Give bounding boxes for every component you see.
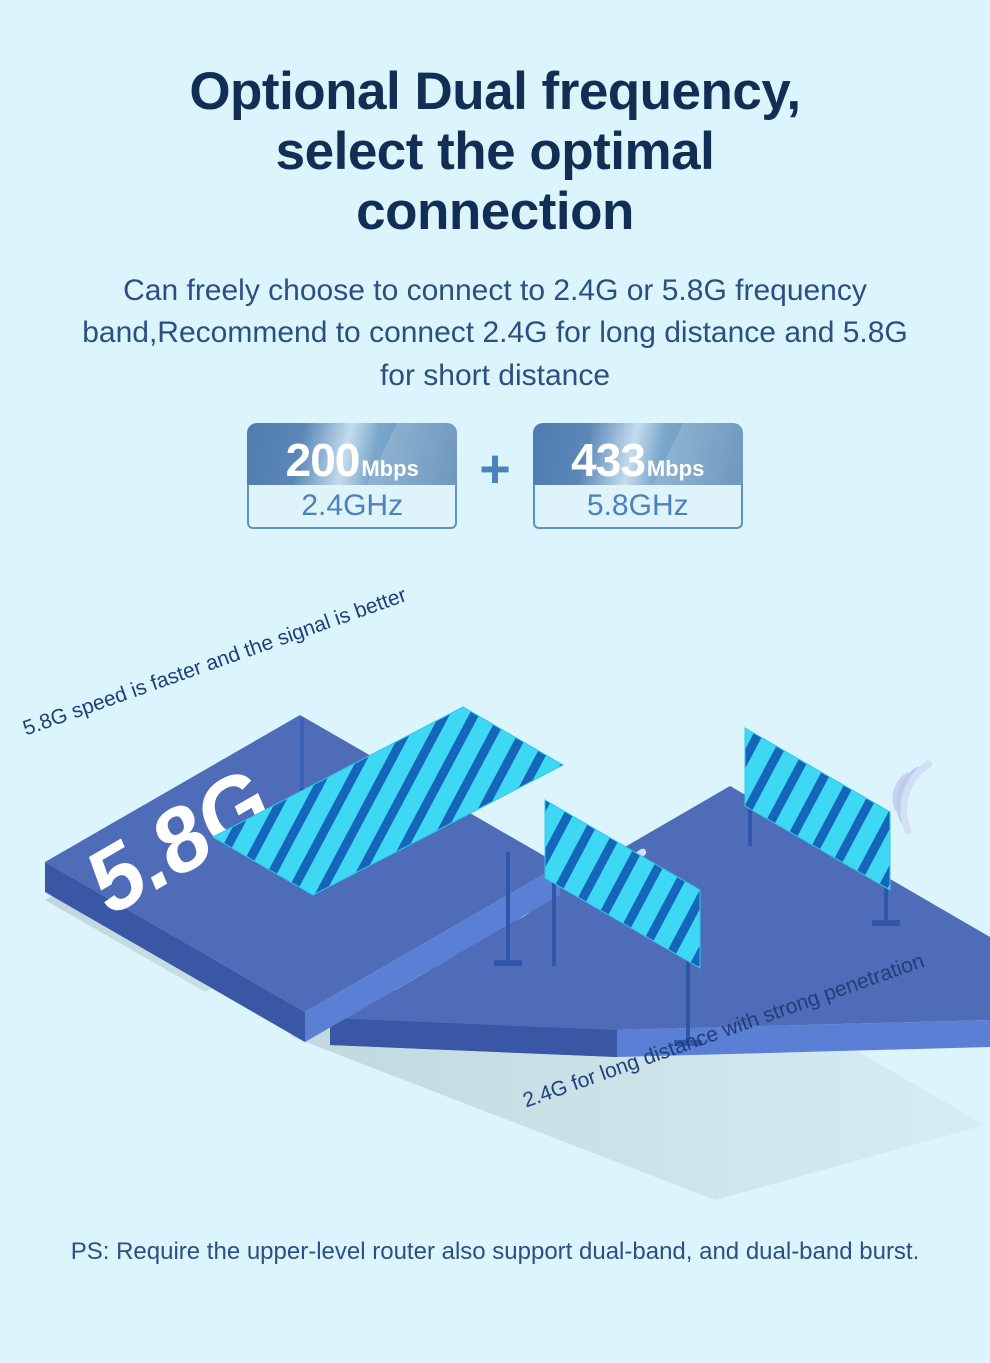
speed-badge-58ghz-value: 433 Mbps [533,423,743,485]
speed-badge-24ghz-value: 200 Mbps [247,423,457,485]
footer-note: PS: Require the upper-level router also … [0,1238,990,1266]
band-label: 2.4GHz [301,491,403,521]
speed-badge-24ghz-band: 2.4GHz [247,485,457,529]
band-label: 5.8GHz [587,491,689,521]
speed-unit: Mbps [647,458,704,480]
speed-badge-58ghz: 433 Mbps 5.8GHz [533,423,743,529]
page-subtitle: Can freely choose to connect to 2.4G or … [65,270,925,398]
speed-number: 433 [571,437,645,483]
page-title: Optional Dual frequency, select the opti… [155,62,835,242]
header: Optional Dual frequency, select the opti… [0,0,990,397]
speed-unit: Mbps [361,458,418,480]
speed-number: 200 [286,437,360,483]
plus-icon: + [479,442,511,510]
speed-badge-24ghz: 200 Mbps 2.4GHz [247,423,457,529]
speed-badge-58ghz-band: 5.8GHz [533,485,743,529]
speed-badge-group: 200 Mbps 2.4GHz + 433 Mbps 5.8GHz [0,423,990,529]
wifi-icon-far [889,764,948,830]
